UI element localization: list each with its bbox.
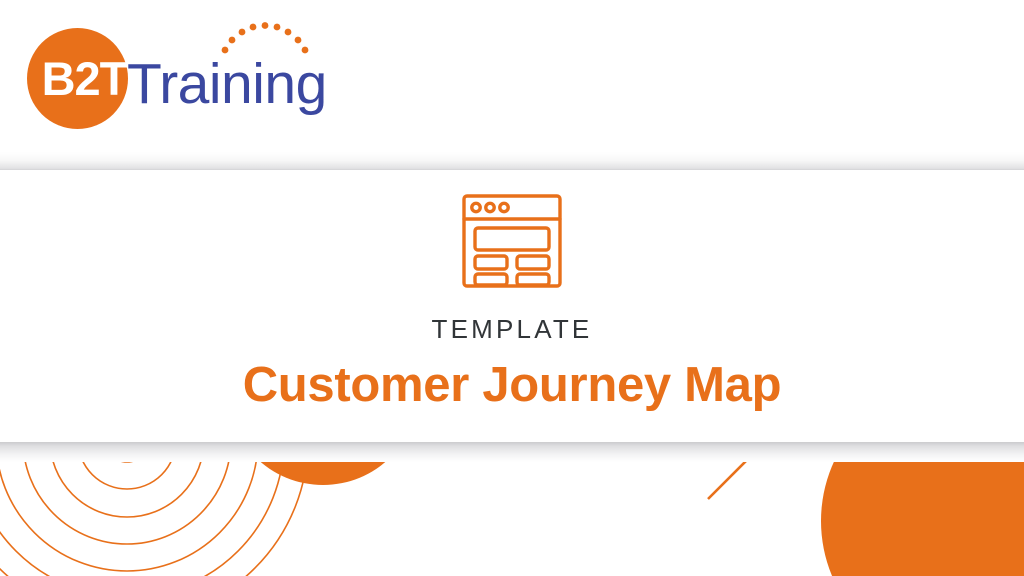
title-card: TEMPLATE Customer Journey Map (0, 170, 1024, 442)
title-card-content: TEMPLATE Customer Journey Map (0, 170, 1024, 442)
logo-mark: B2T (27, 28, 128, 129)
page-title: Customer Journey Map (243, 360, 782, 411)
title-card-bottom-shadow (0, 442, 1024, 462)
logo-mark-text: B2T (34, 28, 135, 129)
b2t-training-logo: B2T Training (27, 28, 327, 128)
wireframe-layout-icon (460, 192, 564, 290)
logo-wordmark: Training (127, 56, 327, 113)
logo-wordmark-text: Training (127, 52, 327, 116)
slide-canvas: B2T Training (0, 0, 1024, 576)
template-eyebrow-label: TEMPLATE (432, 316, 593, 342)
header-band-shadow (0, 152, 1024, 170)
logo-dot-arc-icon (220, 16, 310, 56)
